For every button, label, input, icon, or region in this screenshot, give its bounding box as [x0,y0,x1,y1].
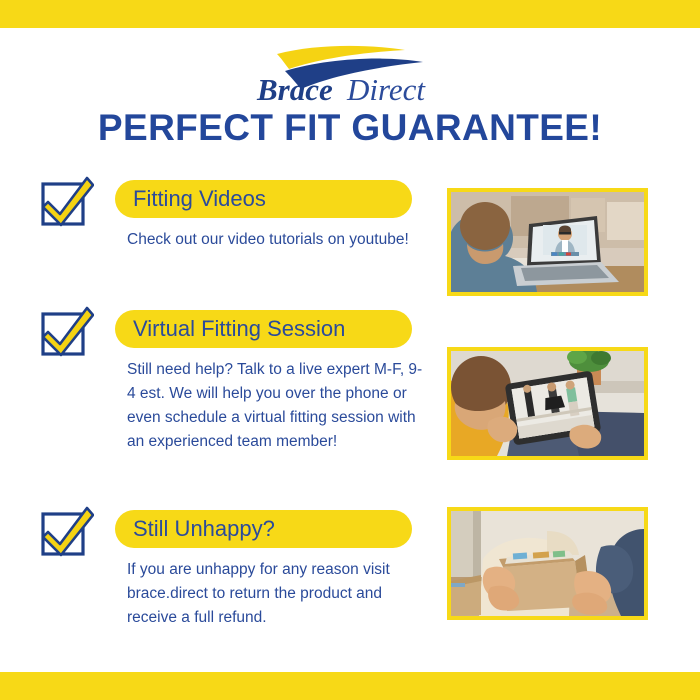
section-body-text: Still need help? Talk to a live expert M… [127,358,423,454]
top-yellow-band [0,0,700,28]
logo-word-brace: Brace [256,72,333,104]
photo-virtual-fitting-session [447,347,648,460]
section-title-pill: Still Unhappy? [115,510,412,548]
photo-still-unhappy-return [447,507,648,620]
photo-fitting-videos [447,188,648,296]
checked-checkbox-icon [40,506,94,560]
page-title: PERFECT FIT GUARANTEE! [0,107,700,149]
section-title-pill: Virtual Fitting Session [115,310,412,348]
logo-word-direct: Direct [346,72,426,104]
section-body-text: If you are unhappy for any reason visit … [127,558,423,630]
section-body-text: Check out our video tutorials on youtube… [127,228,423,252]
section-title-pill: Fitting Videos [115,180,412,218]
checked-checkbox-icon [40,306,94,360]
guarantee-infographic: Brace Direct PERFECT FIT GUARANTEE! Fitt… [0,0,700,700]
brace-direct-logo: Brace Direct [255,42,450,104]
bottom-yellow-band [0,672,700,700]
checked-checkbox-icon [40,176,94,230]
